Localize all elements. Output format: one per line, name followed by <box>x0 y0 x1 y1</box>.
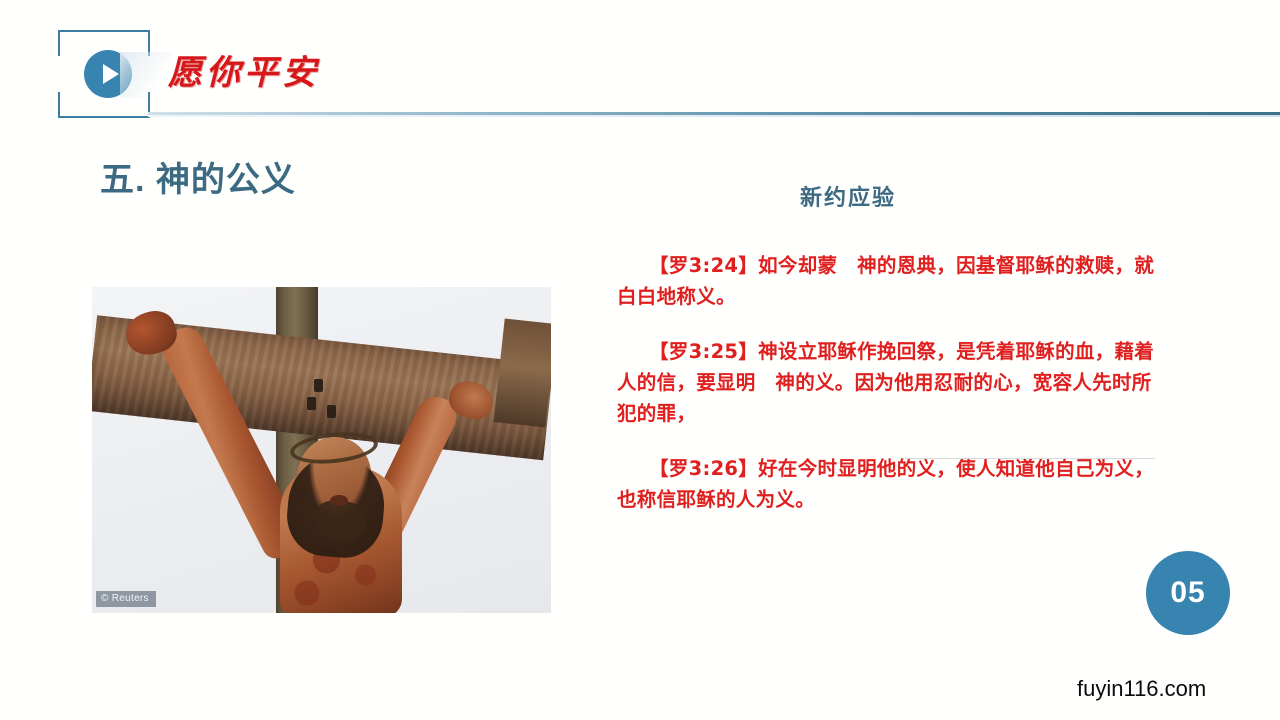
play-icon[interactable] <box>84 50 132 98</box>
site-watermark: fuyin116.com <box>1077 676 1206 702</box>
slide-canvas: 愿你平安 五. 神的公义 © Reuters 新约应验 【罗 <box>0 0 1280 720</box>
page-number-badge: 05 <box>1146 551 1230 635</box>
frame-corner-top-left <box>58 30 60 56</box>
nail-detail <box>327 405 336 418</box>
verse-list: 【罗3:24】如今却蒙 神的恩典，因基督耶稣的救赎，就白白地称义。 【罗3:25… <box>617 250 1162 515</box>
new-testament-heading: 新约应验 <box>800 180 896 212</box>
verse-item: 【罗3:26】好在今时显明他的义，使人知道他自己为义，也称信耶稣的人为义。 <box>617 453 1162 515</box>
slide-header: 愿你平安 <box>0 0 1280 130</box>
page-title: 五. 神的公义 <box>100 152 296 201</box>
frame-bottom-rail <box>58 116 150 118</box>
crucifixion-photo: © Reuters <box>92 287 551 613</box>
play-triangle-glyph <box>103 64 119 84</box>
verse-item: 【罗3:25】神设立耶稣作挽回祭，是凭着耶稣的血，藉着人的信，要显明 神的义。因… <box>617 336 1162 429</box>
frame-corner-bottom-left <box>58 92 60 118</box>
nail-detail <box>314 379 323 392</box>
figure-mouth <box>330 495 348 506</box>
verse-item: 【罗3:24】如今却蒙 神的恩典，因基督耶稣的救赎，就白白地称义。 <box>617 250 1162 312</box>
frame-corner-top-right <box>148 30 150 56</box>
photo-credit-watermark: © Reuters <box>96 591 156 607</box>
header-divider-line-soft <box>148 115 1280 117</box>
frame-top-rail <box>58 30 150 32</box>
nail-detail <box>307 397 316 410</box>
cross-beam-end <box>494 318 551 427</box>
faint-horizontal-rule <box>905 458 1155 459</box>
photo-content <box>92 287 551 613</box>
brand-title: 愿你平安 <box>168 50 320 96</box>
